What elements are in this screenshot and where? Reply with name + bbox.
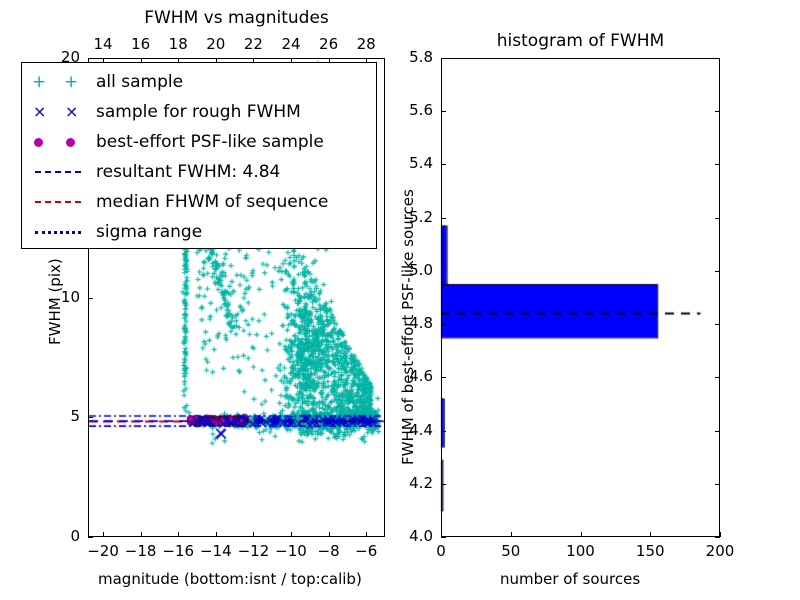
ytick-right-panel-mirror [715,484,720,485]
xtick-bottom [366,532,367,537]
ytick-label-right-panel: 4.2 [409,476,433,491]
ytick-right-panel [441,111,446,112]
xtick-label-top: 26 [319,37,338,52]
xtick-label-top: 28 [357,37,376,52]
xtick-label-top: 16 [131,37,150,52]
xtick-bottom [178,532,179,537]
xtick-label-right-panel: 50 [501,544,520,559]
xtick-label-right-panel: 200 [706,544,735,559]
ytick-label-left: 5 [70,409,80,424]
xtick-label-bottom: −12 [238,544,270,559]
legend-entry-sigma-range: sigma range [22,217,376,247]
ytick-left [88,417,93,418]
legend-label: all sample [96,74,183,91]
ytick-right-panel [441,218,446,219]
legend-label: best-effort PSF-like sample [96,134,324,151]
xtick-bottom [141,532,142,537]
legend-entry-rough-fwhm: × × sample for rough FWHM [22,97,376,127]
ytick-label-left: 0 [70,529,80,544]
xtick-label-bottom: −16 [162,544,194,559]
ytick-label-right-panel: 5.4 [409,156,433,171]
ytick-right-panel-mirror [715,164,720,165]
ytick-left [88,537,93,538]
legend: + + all sample × × sample for rough FWHM… [21,62,377,249]
ytick-right-panel [441,431,446,432]
ytick-left [88,298,93,299]
ytick-label-right-panel: 5.6 [409,103,433,118]
ytick-right-panel-mirror [715,218,720,219]
ytick-label-right-panel: 4.4 [409,423,433,438]
legend-label: sample for rough FWHM [96,104,301,121]
ytick-right-panel-mirror [715,58,720,59]
ytick-right-panel [441,537,446,538]
legend-label: sigma range [96,224,202,241]
ytick-label-right-panel: 5.0 [409,263,433,278]
xtick-label-bottom: −18 [125,544,157,559]
ytick-right-panel-mirror [715,377,720,378]
xtick-bottom [103,532,104,537]
ytick-right-panel-mirror [715,111,720,112]
xtick-bottom [329,532,330,537]
ytick-label-right-panel: 4.0 [409,529,433,544]
xtick-label-bottom: −20 [87,544,119,559]
ytick-right-panel-mirror [715,324,720,325]
ytick-left [88,58,93,59]
xtick-bottom [253,532,254,537]
ytick-right-panel [441,271,446,272]
xtick-right-panel [650,532,651,537]
legend-marker-dashdot-icon [22,218,96,246]
legend-marker-dot-icon [22,128,96,156]
xtick-right-panel [720,532,721,537]
xtick-label-right-panel: 0 [436,544,446,559]
ytick-right-panel-mirror [715,537,720,538]
xtick-right-panel [511,532,512,537]
xtick-label-bottom: −14 [200,544,232,559]
ytick-label-left: 10 [61,290,80,305]
xtick-right-panel [581,532,582,537]
xtick-label-top: 18 [169,37,188,52]
legend-label: resultant FWHM: 4.84 [96,164,280,181]
legend-label: median FHWM of sequence [96,194,328,211]
xtick-label-bottom: −8 [318,544,340,559]
figure-canvas: FWHM vs magnitudes FWHM (pix) magnitude … [0,0,800,600]
xtick-bottom [216,532,217,537]
legend-marker-dashed-blue-icon [22,158,96,186]
legend-entry-psf-sample: best-effort PSF-like sample [22,127,376,157]
ytick-right-panel [441,164,446,165]
legend-marker-plus-icon: + + [22,68,96,96]
ytick-right-panel [441,377,446,378]
ytick-right-panel [441,484,446,485]
ytick-right-panel [441,324,446,325]
ytick-right-panel [441,58,446,59]
xtick-label-top: 20 [206,37,225,52]
ytick-label-right-panel: 4.6 [409,369,433,384]
legend-entry-median-fhwm: median FHWM of sequence [22,187,376,217]
xtick-label-bottom: −10 [275,544,307,559]
xtick-label-bottom: −6 [355,544,377,559]
xtick-label-top: 14 [93,37,112,52]
legend-entry-resultant-fwhm: resultant FWHM: 4.84 [22,157,376,187]
ytick-right-panel-mirror [715,431,720,432]
legend-entry-all-sample: + + all sample [22,67,376,97]
xtick-label-right-panel: 150 [636,544,665,559]
ytick-label-right-panel: 5.2 [409,210,433,225]
ytick-label-right-panel: 5.8 [409,50,433,65]
xtick-label-top: 22 [244,37,263,52]
ytick-right-panel-mirror [715,271,720,272]
legend-marker-cross-icon: × × [22,98,96,126]
ytick-label-right-panel: 4.8 [409,316,433,331]
xtick-label-top: 24 [281,37,300,52]
legend-marker-dashed-red-icon [22,188,96,216]
xtick-label-right-panel: 100 [566,544,595,559]
xtick-bottom [291,532,292,537]
